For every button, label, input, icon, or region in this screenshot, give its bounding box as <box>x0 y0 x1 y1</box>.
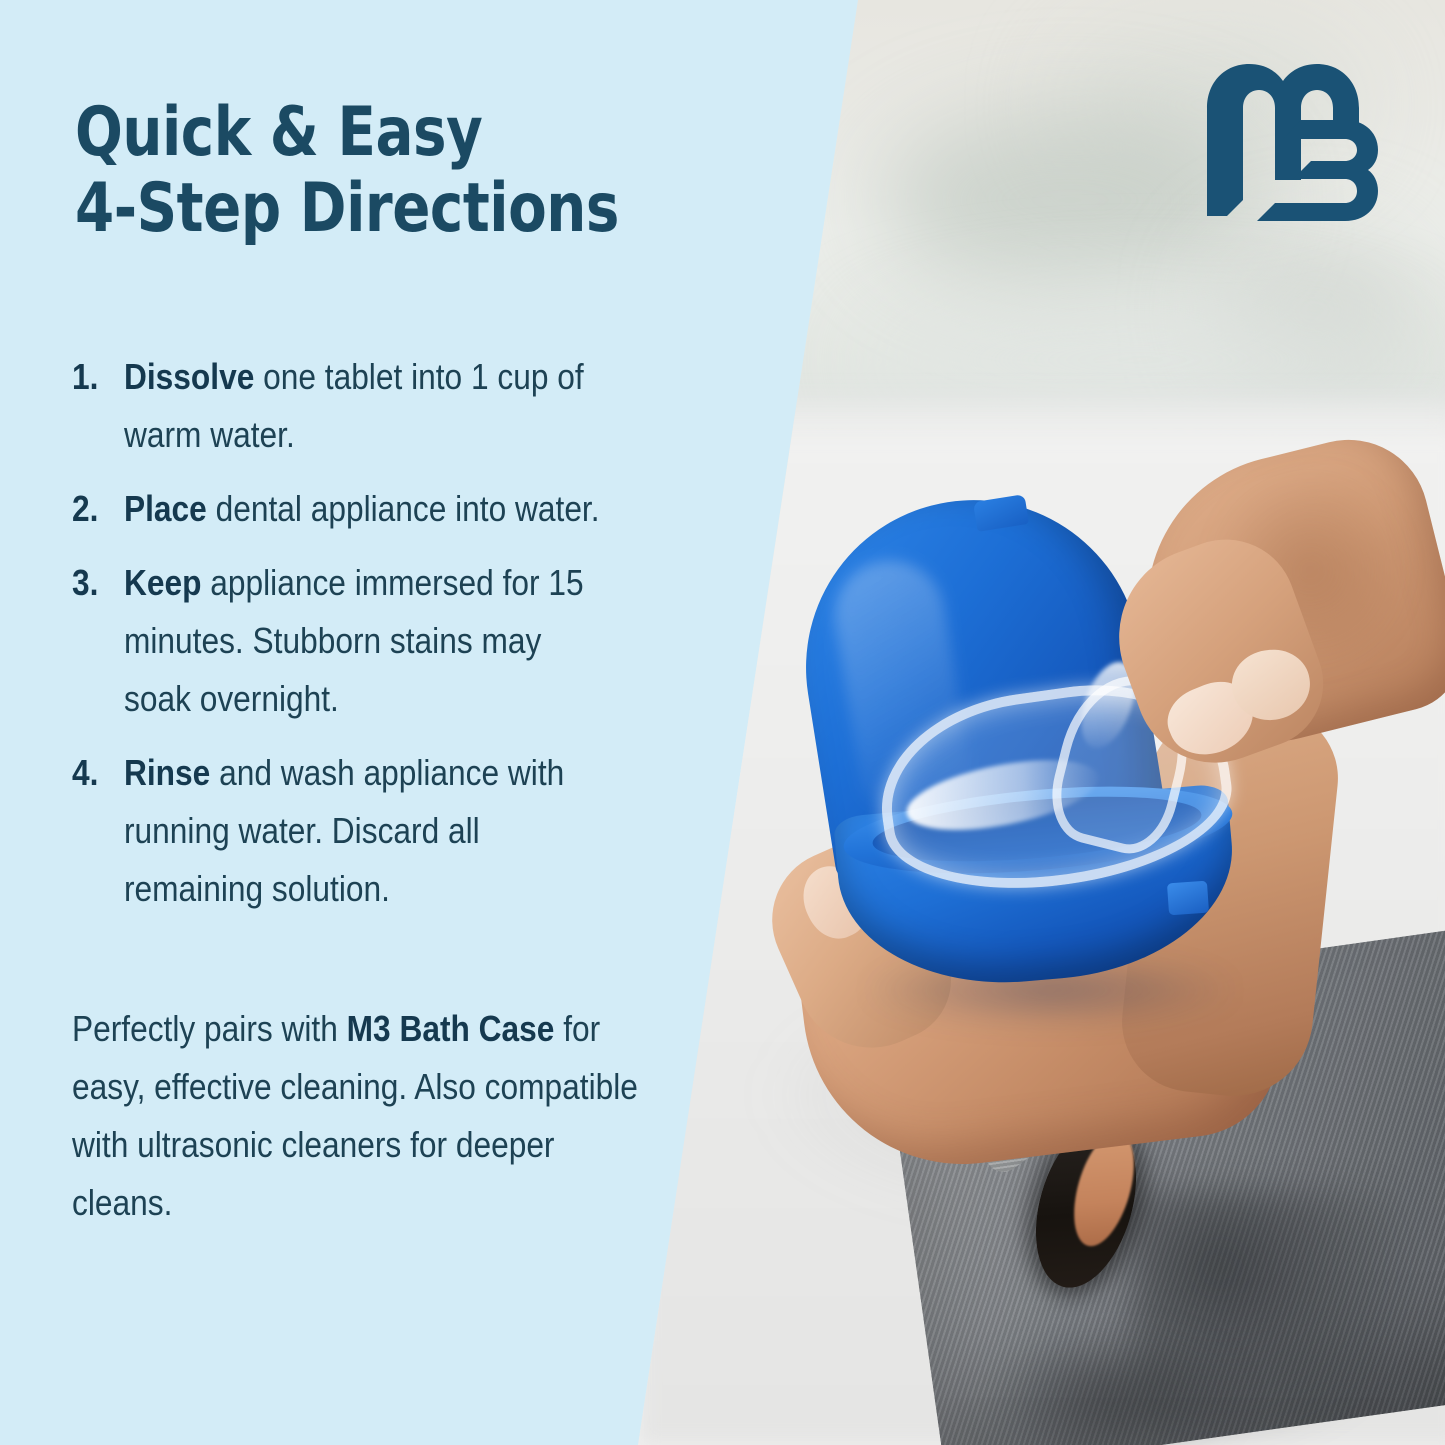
case-latch <box>1167 881 1209 916</box>
background-blur-blob <box>880 110 1260 290</box>
step-number: 4. <box>72 744 118 802</box>
step-bold-lead: Keep <box>124 562 201 603</box>
step-item: 4. Rinse and wash appliance with running… <box>72 744 672 918</box>
step-number: 2. <box>72 480 118 538</box>
step-rest: dental appliance into water. <box>207 488 600 529</box>
step-text: Rinse and wash appliance with running wa… <box>124 744 606 918</box>
directions-text-panel: Quick & Easy 4-Step Directions 1. Dissol… <box>0 0 720 1445</box>
step-text: Dissolve one tablet into 1 cup of warm w… <box>124 348 606 464</box>
step-text: Keep appliance immersed for 15 minutes. … <box>124 554 606 728</box>
step-item: 1. Dissolve one tablet into 1 cup of war… <box>72 348 672 464</box>
step-item: 3. Keep appliance immersed for 15 minute… <box>72 554 672 728</box>
steps-list: 1. Dissolve one tablet into 1 cup of war… <box>72 348 672 934</box>
pairs-note: Perfectly pairs with M3 Bath Case for ea… <box>72 1000 653 1232</box>
pairs-product-name: M3 Bath Case <box>347 1008 555 1049</box>
step-number: 3. <box>72 554 118 612</box>
step-bold-lead: Dissolve <box>124 356 254 397</box>
product-directions-graphic: Quick & Easy 4-Step Directions 1. Dissol… <box>0 0 1445 1445</box>
step-bold-lead: Place <box>124 488 207 529</box>
sleeve-shading <box>980 1330 1240 1445</box>
step-item: 2. Place dental appliance into water. <box>72 480 672 538</box>
step-text: Place dental appliance into water. <box>124 480 606 538</box>
step-bold-lead: Rinse <box>124 752 210 793</box>
step-number: 1. <box>72 348 118 406</box>
page-title: Quick & Easy 4-Step Directions <box>75 95 664 247</box>
pairs-lead: Perfectly pairs with <box>72 1008 347 1049</box>
m3-monogram-logo <box>1205 60 1380 225</box>
